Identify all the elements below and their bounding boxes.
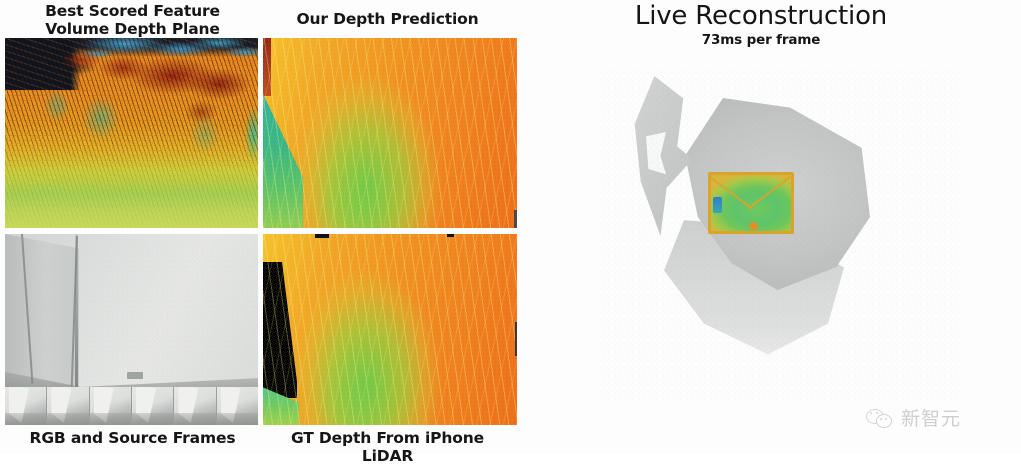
panel-our-depth-prediction[interactable] [263,38,517,228]
wechat-bubble-small [876,414,892,428]
live-reconstruction-viewport[interactable] [600,70,960,400]
reconstruction-point-speckle [600,70,960,400]
watermark: 新智元 [866,404,961,431]
caption-our-depth-prediction: Our Depth Prediction [265,10,510,28]
live-reconstruction-title: Live Reconstruction [601,1,921,32]
source-frame-thumbnail[interactable] [174,387,215,425]
panel-rgb-and-source-frames[interactable] [5,234,258,425]
gt-depth-dither [263,234,517,425]
source-frames-strip[interactable] [5,387,258,425]
live-reconstruction-subtitle: 73ms per frame [601,33,921,49]
source-frame-thumbnail[interactable] [47,387,88,425]
panel-best-scored-feature-volume-depth-plane[interactable] [5,38,258,228]
source-frame-thumbnail[interactable] [132,387,173,425]
wechat-dot [870,412,872,414]
watermark-text: 新智元 [901,404,961,431]
panel-gt-depth-from-iphone-lidar[interactable] [263,234,517,425]
caption-rgb-and-source-frames: RGB and Source Frames [10,429,255,447]
gt-depth-top-artifact-small [447,234,454,237]
gt-depth-top-artifact [315,234,329,238]
depth-prediction-right-edge-artifact [514,210,517,228]
wechat-dot [880,418,882,420]
caption-best-scored-feature-volume-depth-plane: Best Scored Feature Volume Depth Plane [10,2,255,39]
source-frame-thumbnail[interactable] [90,387,131,425]
feature-volume-streak-noise [5,38,258,228]
wechat-bubbles-icon [866,408,894,428]
caption-gt-depth-from-iphone-lidar: GT Depth From iPhone LiDAR [265,429,510,466]
panel-grid [5,38,517,425]
source-frame-thumbnail[interactable] [217,387,258,425]
wechat-dot [885,418,887,420]
wechat-dot [876,412,878,414]
gt-depth-right-edge-artifact [515,322,517,356]
depth-prediction-dither [263,38,517,228]
source-frame-thumbnail[interactable] [5,387,46,425]
